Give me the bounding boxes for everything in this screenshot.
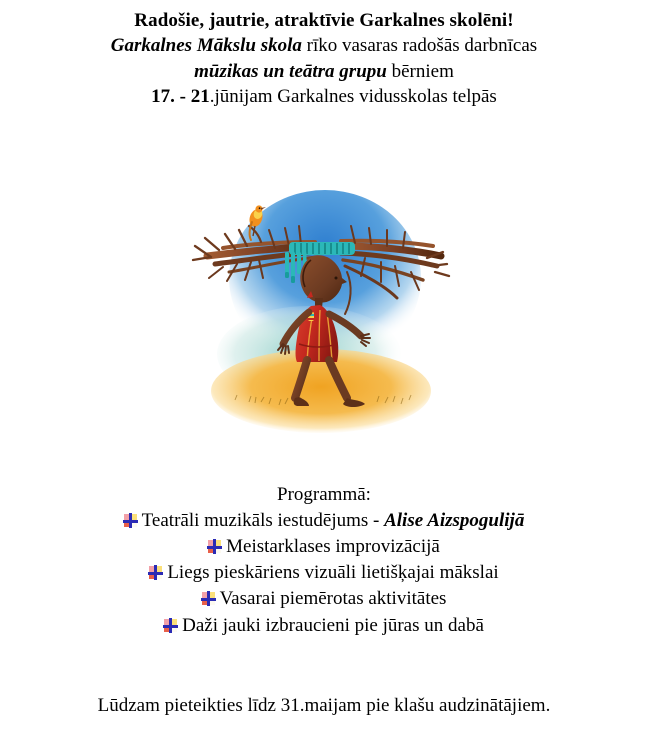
programme-section: Programmā: Teatrāli muzikāls iestudējums…	[0, 482, 648, 639]
header-line-3-rest: bērniem	[387, 61, 454, 82]
programme-item-text: Vasarai piemērotas aktivitātes	[220, 588, 447, 609]
header-line-4-emphasis: 17. - 21	[151, 86, 210, 107]
poster-page: Radošie, jautrie, atraktīvie Garkalnes s…	[0, 0, 648, 735]
girl-carrying-firewood-illustration	[189, 186, 459, 448]
registration-note: Lūdzam pieteikties līdz 31.maijam pie kl…	[0, 693, 648, 719]
programme-item: Teatrāli muzikāls iestudējums - Alise Ai…	[0, 508, 648, 534]
programme-title: Programmā:	[0, 482, 648, 508]
four-color-cross-bullet-icon	[124, 514, 137, 527]
header-line-1: Radošie, jautrie, atraktīvie Garkalnes s…	[0, 8, 648, 33]
poster-header: Radošie, jautrie, atraktīvie Garkalnes s…	[0, 8, 648, 109]
header-line-3-emphasis: mūzikas un teātra grupu	[194, 61, 387, 82]
programme-item-text: Teatrāli muzikāls iestudējums -	[142, 510, 384, 531]
four-color-cross-bullet-icon	[208, 540, 221, 553]
header-line-2-emphasis: Garkalnes Mākslu skola	[111, 35, 302, 56]
header-line-2: Garkalnes Mākslu skola rīko vasaras rado…	[0, 33, 648, 58]
programme-item-text: Meistarklases improvizācijā	[226, 536, 440, 557]
programme-item: Vasarai piemērotas aktivitātes	[0, 586, 648, 612]
header-line-3: mūzikas un teātra grupu bērniem	[0, 59, 648, 84]
programme-item: Meistarklases improvizācijā	[0, 534, 648, 560]
four-color-cross-bullet-icon	[202, 592, 215, 605]
four-color-cross-bullet-icon	[149, 566, 162, 579]
header-line-4-rest: .jūnijam Garkalnes vidusskolas telpās	[210, 86, 497, 107]
programme-item: Liegs pieskāriens vizuāli lietišķajai mā…	[0, 560, 648, 586]
programme-item-text: Liegs pieskāriens vizuāli lietišķajai mā…	[167, 562, 498, 583]
header-line-2-rest: rīko vasaras radošās darbnīcas	[302, 35, 537, 56]
programme-item-emphasis: Alise Aizspogulijā	[384, 510, 524, 531]
four-color-cross-bullet-icon	[164, 619, 177, 632]
programme-item: Daži jauki izbraucieni pie jūras un dabā	[0, 613, 648, 639]
header-line-4: 17. - 21.jūnijam Garkalnes vidusskolas t…	[0, 84, 648, 109]
illustration-canvas	[189, 186, 459, 448]
poster-footer: Lūdzam pieteikties līdz 31.maijam pie kl…	[0, 693, 648, 719]
programme-item-text: Daži jauki izbraucieni pie jūras un dabā	[182, 615, 484, 636]
programme-list: Teatrāli muzikāls iestudējums - Alise Ai…	[0, 508, 648, 639]
